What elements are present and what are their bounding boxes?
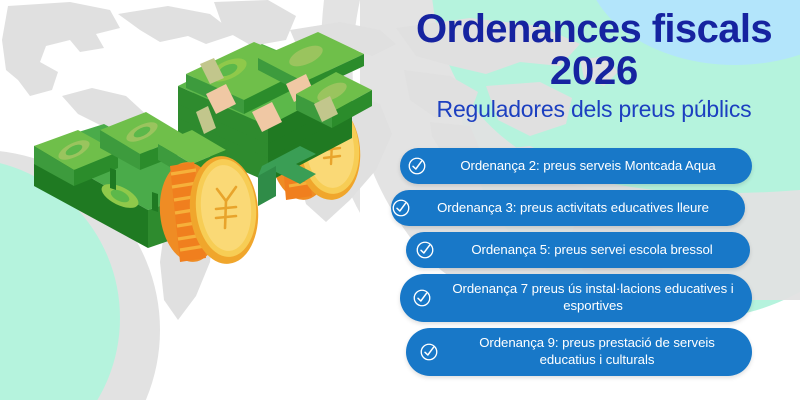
title-block: Ordenances fiscals 2026 Reguladores dels… bbox=[388, 8, 800, 123]
ordinance-list: Ordenança 2: preus serveis Montcada Aqua… bbox=[388, 148, 800, 382]
page-title: Ordenances fiscals bbox=[388, 8, 800, 50]
check-circle-icon bbox=[400, 156, 434, 176]
list-item-label: Ordenança 2: preus serveis Montcada Aqua bbox=[434, 158, 752, 175]
money-illustration-svg bbox=[0, 0, 400, 400]
list-item-label: Ordenança 5: preus servei escola bressol bbox=[444, 242, 750, 259]
content-column: Ordenances fiscals 2026 Reguladores dels… bbox=[388, 0, 800, 400]
list-item[interactable]: Ordenança 5: preus servei escola bressol bbox=[406, 232, 750, 268]
page-title-year: 2026 bbox=[388, 50, 800, 92]
money-illustration bbox=[0, 0, 400, 400]
list-item[interactable]: Ordenança 7 preus ús instal·lacions educ… bbox=[400, 274, 752, 322]
check-circle-icon bbox=[400, 288, 444, 308]
list-item[interactable]: Ordenança 9: preus prestació de serveis … bbox=[406, 328, 752, 376]
list-item-label: Ordenança 7 preus ús instal·lacions educ… bbox=[444, 281, 752, 315]
check-circle-icon bbox=[391, 198, 411, 218]
list-item-label: Ordenança 3: preus activitats educatives… bbox=[411, 200, 745, 217]
list-item-label: Ordenança 9: preus prestació de serveis … bbox=[452, 335, 752, 369]
list-item[interactable]: Ordenança 2: preus serveis Montcada Aqua bbox=[400, 148, 752, 184]
list-item[interactable]: Ordenança 3: preus activitats educatives… bbox=[391, 190, 745, 226]
page-subtitle: Reguladores dels preus públics bbox=[388, 96, 800, 122]
poster-root: Ordenances fiscals 2026 Reguladores dels… bbox=[0, 0, 800, 400]
check-circle-icon bbox=[406, 240, 444, 260]
check-circle-icon bbox=[406, 342, 452, 362]
